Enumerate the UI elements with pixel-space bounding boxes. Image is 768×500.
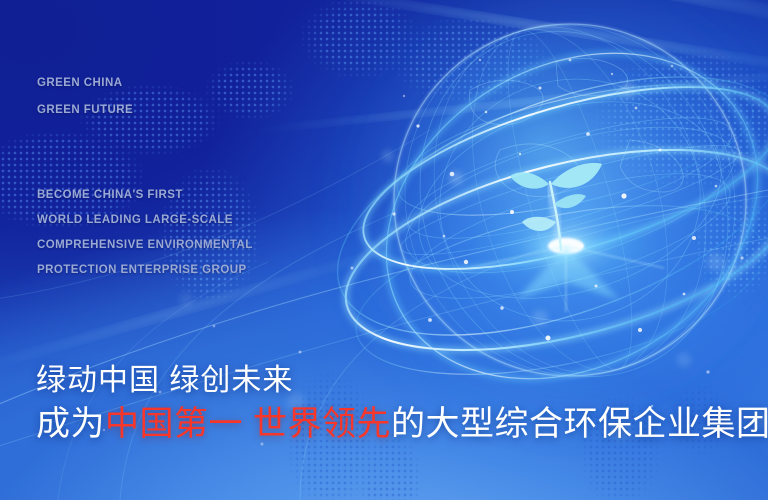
continent-outlines [470, 58, 684, 196]
slogan-main-line-4: PROTECTION ENTERPRISE GROUP [37, 258, 253, 283]
core-light-burst [470, 202, 664, 312]
chinese-slogan-line-2: 成为中国第一 世界领先的大型综合环保企业集团 [36, 402, 768, 446]
chinese-slogan-prefix: 成为 [36, 405, 105, 443]
sprout-seedling-icon [510, 163, 602, 250]
slogan-top-line-2: GREEN FUTURE [37, 97, 133, 124]
globe-sphere [364, 0, 768, 414]
slogan-main-line-2: WORLD LEADING LARGE-SCALE [37, 208, 253, 233]
chinese-slogan-highlight: 中国第一 世界领先 [105, 405, 391, 443]
english-slogan-main: BECOME CHINA'S FIRST WORLD LEADING LARGE… [37, 183, 253, 283]
promotional-banner: GREEN CHINA GREEN FUTURE BECOME CHINA'S … [0, 0, 768, 500]
slogan-main-line-3: COMPREHENSIVE ENVIRONMENTAL [37, 233, 253, 258]
slogan-top-line-1: GREEN CHINA [37, 70, 133, 97]
chinese-slogan: 绿动中国 绿创未来 成为中国第一 世界领先的大型综合环保企业集团 [36, 362, 768, 446]
slogan-main-line-1: BECOME CHINA'S FIRST [37, 183, 253, 208]
chinese-slogan-line-1: 绿动中国 绿创未来 [36, 362, 768, 400]
chinese-slogan-suffix: 的大型综合环保企业集团 [391, 405, 768, 443]
english-slogan-top: GREEN CHINA GREEN FUTURE [37, 70, 133, 124]
